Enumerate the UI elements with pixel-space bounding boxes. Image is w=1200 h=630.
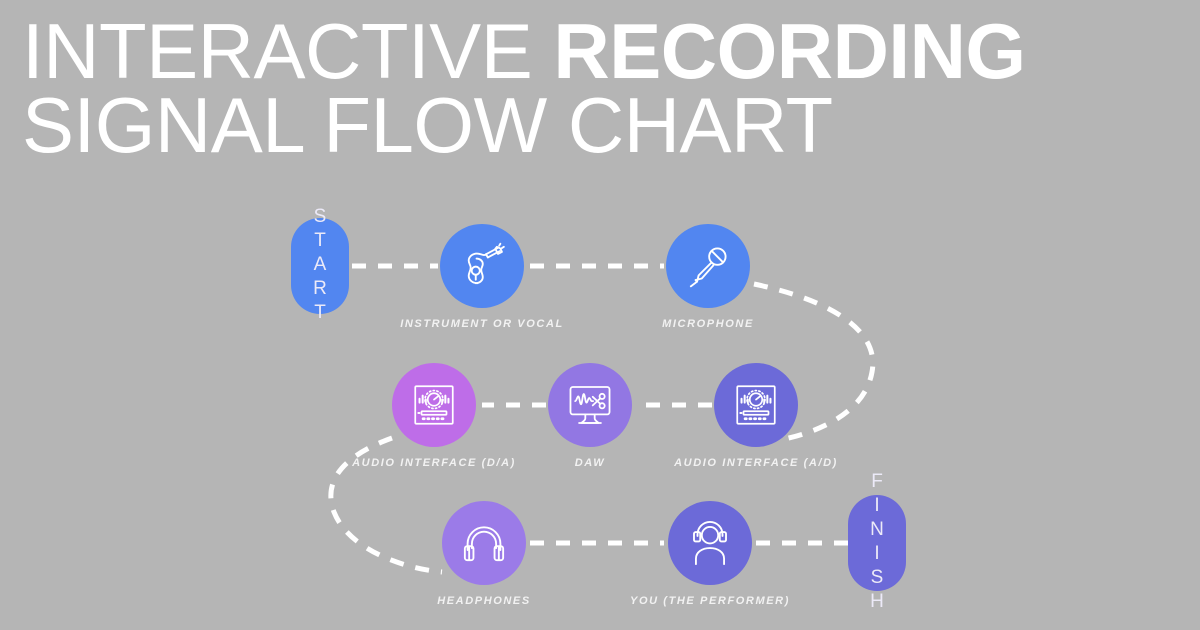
- start-badge-label: START: [311, 206, 330, 326]
- audio-interface-icon: [731, 380, 781, 430]
- flowchart-canvas: INTERACTIVE RECORDING SIGNAL FLOW CHART …: [0, 0, 1200, 630]
- guitar-icon: [457, 241, 507, 291]
- microphone-icon: [683, 241, 733, 291]
- node-audio-interface-da-label: AUDIO INTERFACE (D/A): [352, 457, 516, 469]
- audio-interface-icon: [409, 380, 459, 430]
- node-headphones[interactable]: HEADPHONES: [442, 501, 526, 585]
- node-daw[interactable]: DAW: [548, 363, 632, 447]
- finish-badge-label: FINISH: [868, 471, 887, 615]
- node-audio-interface-da[interactable]: AUDIO INTERFACE (D/A): [392, 363, 476, 447]
- node-instrument-or-vocal-label: INSTRUMENT OR VOCAL: [400, 318, 564, 330]
- node-daw-label: DAW: [575, 457, 605, 469]
- node-audio-interface-ad[interactable]: AUDIO INTERFACE (A/D): [714, 363, 798, 447]
- node-instrument-or-vocal[interactable]: INSTRUMENT OR VOCAL: [440, 224, 524, 308]
- node-headphones-label: HEADPHONES: [437, 595, 531, 607]
- connector-lines: [0, 0, 1200, 630]
- node-microphone[interactable]: MICROPHONE: [666, 224, 750, 308]
- node-performer-label: YOU (THE PERFORMER): [630, 595, 790, 607]
- node-performer[interactable]: YOU (THE PERFORMER): [668, 501, 752, 585]
- person-with-headphones-icon: [685, 518, 735, 568]
- node-microphone-label: MICROPHONE: [662, 318, 754, 330]
- node-audio-interface-ad-label: AUDIO INTERFACE (A/D): [674, 457, 838, 469]
- finish-badge[interactable]: FINISH: [848, 495, 906, 591]
- headphones-icon: [459, 518, 509, 568]
- start-badge[interactable]: START: [291, 218, 349, 314]
- daw-monitor-icon: [565, 380, 615, 430]
